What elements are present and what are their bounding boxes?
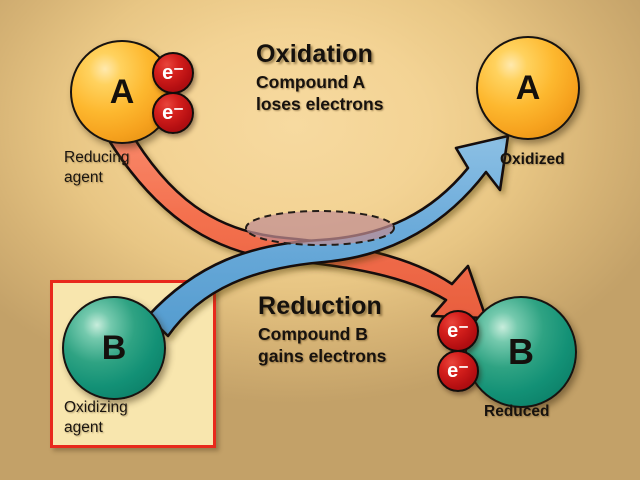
electron-symbol: e⁻ [447, 361, 469, 381]
oxidizing-agent-label-line2: agent [64, 418, 128, 438]
reduction-description: Compound B gains electrons [258, 324, 386, 368]
reducing-agent-label: Reducing agent [64, 148, 130, 188]
sphere-b-reduced[interactable]: B [465, 296, 577, 408]
sphere-a-right-label: A [516, 71, 541, 105]
sphere-b-left-label: B [102, 331, 127, 365]
reducing-agent-label-line2: agent [64, 168, 130, 188]
reduction-description-line1: Compound B [258, 324, 386, 346]
reduction-heading: Reduction [258, 292, 382, 321]
electron-icon: e⁻ [437, 310, 479, 352]
sphere-b-oxidizing-agent[interactable]: B [62, 296, 166, 400]
redox-diagram-canvas: A A B B e⁻ e⁻ e⁻ e⁻ Oxidation Compound A… [0, 0, 640, 480]
sphere-b-right-label: B [508, 334, 534, 370]
oxidized-label: Oxidized [500, 150, 565, 170]
electron-symbol: e⁻ [162, 103, 184, 123]
sphere-a-oxidized[interactable]: A [476, 36, 580, 140]
crossing-region-ellipse [246, 211, 394, 245]
electron-symbol: e⁻ [162, 63, 184, 83]
oxidation-heading: Oxidation [256, 40, 373, 69]
oxidizing-agent-label: Oxidizing agent [64, 398, 128, 438]
reducing-agent-label-line1: Reducing [64, 148, 130, 168]
electron-icon: e⁻ [152, 52, 194, 94]
electron-icon: e⁻ [152, 92, 194, 134]
sphere-a-left-label: A [110, 75, 135, 109]
oxidation-description-line2: loses electrons [256, 94, 383, 116]
oxidation-description-line1: Compound A [256, 72, 383, 94]
electron-icon: e⁻ [437, 350, 479, 392]
electron-symbol: e⁻ [447, 321, 469, 341]
reduced-label: Reduced [484, 402, 549, 422]
reduction-description-line2: gains electrons [258, 346, 386, 368]
oxidizing-agent-label-line1: Oxidizing [64, 398, 128, 418]
oxidation-description: Compound A loses electrons [256, 72, 383, 116]
